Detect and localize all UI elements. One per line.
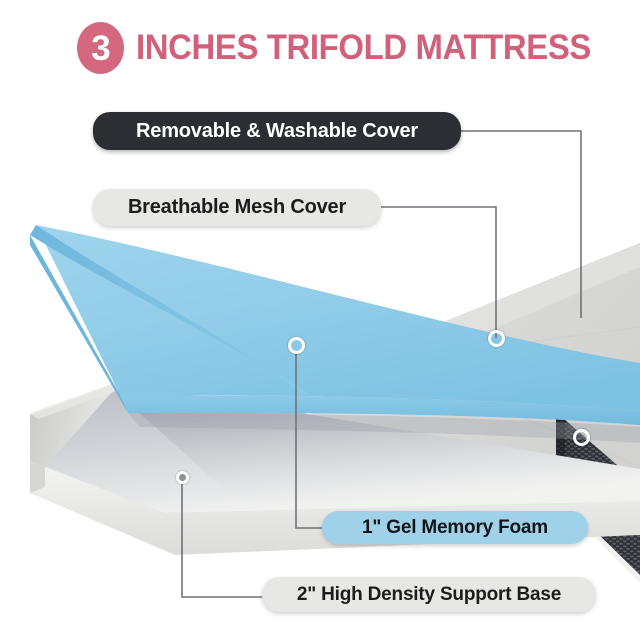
label-high-density-support-base[interactable]: 2" High Density Support Base — [262, 577, 596, 612]
label-breathable-mesh-cover[interactable]: Breathable Mesh Cover — [93, 189, 381, 226]
marker-support-base-dot — [176, 471, 189, 484]
product-infographic: 3 INCHES TRIFOLD MATTRESS — [0, 0, 640, 640]
page-title: INCHES TRIFOLD MATTRESS — [136, 25, 578, 71]
marker-gel-foam-ring — [288, 337, 305, 354]
mattress-illustration — [0, 95, 640, 640]
header: 3 INCHES TRIFOLD MATTRESS — [0, 0, 640, 100]
label-removable-washable-cover[interactable]: Removable & Washable Cover — [93, 112, 461, 150]
marker-mesh-cover-ring — [488, 330, 505, 347]
badge-number: 3 — [91, 31, 109, 66]
marker-removable-cover-ring — [573, 429, 590, 446]
number-badge: 3 — [77, 22, 124, 74]
label-gel-memory-foam[interactable]: 1" Gel Memory Foam — [322, 511, 588, 544]
